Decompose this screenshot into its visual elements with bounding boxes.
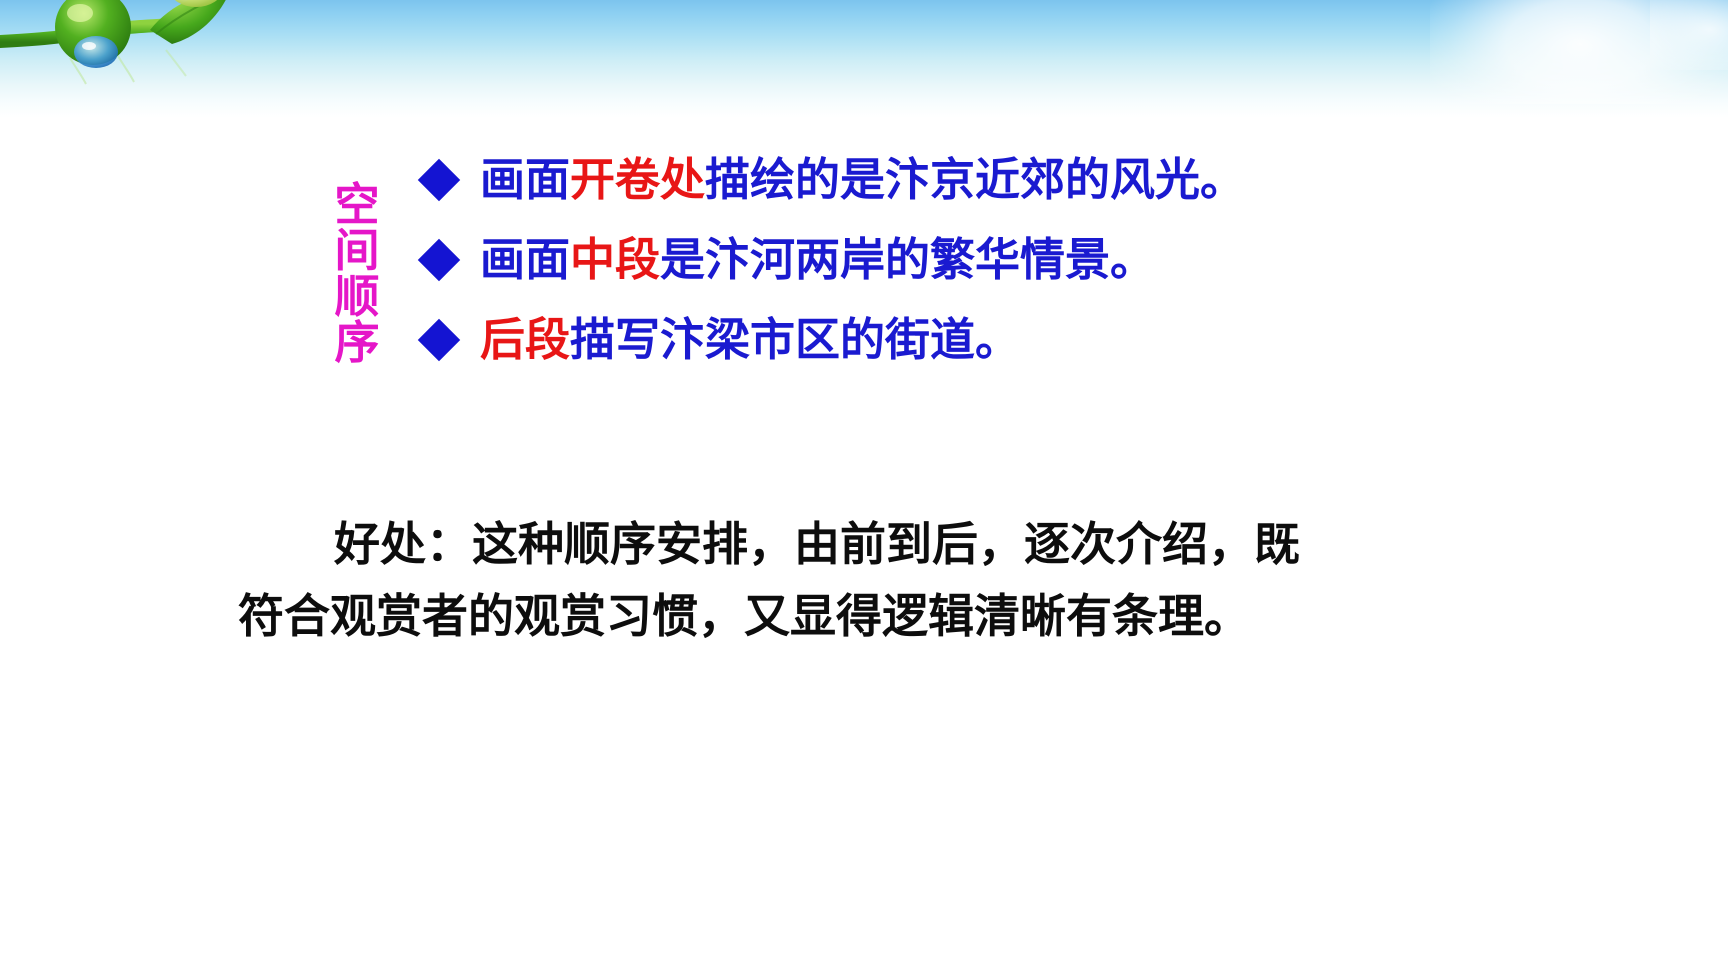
bullet-1-highlight: 开卷处 <box>570 153 705 206</box>
bullet-2-pre: 画面 <box>480 233 570 286</box>
bullet-item-1: 画面开卷处描绘的是汴京近郊的风光。 <box>424 140 1604 220</box>
bullet-item-2-text: 画面中段是汴河两岸的繁华情景。 <box>480 234 1604 286</box>
bullet-3-post: 描写汴梁市区的街道。 <box>570 313 1020 366</box>
benefit-paragraph-line-1: 好处：这种顺序安排，由前到后，逐次介绍，既 <box>238 508 1358 580</box>
presentation-slide: 空 间 顺 序 画面开卷处描绘的是汴京近郊的风光。 画面中段是汴河两岸的繁华情景… <box>0 0 1728 972</box>
leaf-dewdrop-icon <box>0 0 260 90</box>
cloud-highlight-secondary-icon <box>1650 0 1728 70</box>
vertical-section-label: 空 间 顺 序 <box>326 182 388 366</box>
bullet-list: 画面开卷处描绘的是汴京近郊的风光。 画面中段是汴河两岸的繁华情景。 后段描写汴梁… <box>424 140 1604 380</box>
diamond-bullet-icon <box>418 159 460 201</box>
bullet-2-post: 是汴河两岸的繁华情景。 <box>660 233 1155 286</box>
bullet-item-3: 后段描写汴梁市区的街道。 <box>424 300 1604 380</box>
diamond-bullet-icon <box>418 239 460 281</box>
bullet-1-pre: 画面 <box>480 153 570 206</box>
bullet-2-highlight: 中段 <box>570 233 660 286</box>
bullet-item-3-text: 后段描写汴梁市区的街道。 <box>480 314 1604 366</box>
bullet-1-post: 描绘的是汴京近郊的风光。 <box>705 153 1245 206</box>
bullet-item-2: 画面中段是汴河两岸的繁华情景。 <box>424 220 1604 300</box>
diamond-bullet-icon <box>418 319 460 361</box>
bullet-item-1-text: 画面开卷处描绘的是汴京近郊的风光。 <box>480 154 1604 206</box>
bullet-3-highlight: 后段 <box>480 313 570 366</box>
benefit-paragraph: 好处：这种顺序安排，由前到后，逐次介绍，既 符合观赏者的观赏习惯，又显得逻辑清晰… <box>238 508 1358 652</box>
benefit-paragraph-line-2: 符合观赏者的观赏习惯，又显得逻辑清晰有条理。 <box>238 580 1358 652</box>
